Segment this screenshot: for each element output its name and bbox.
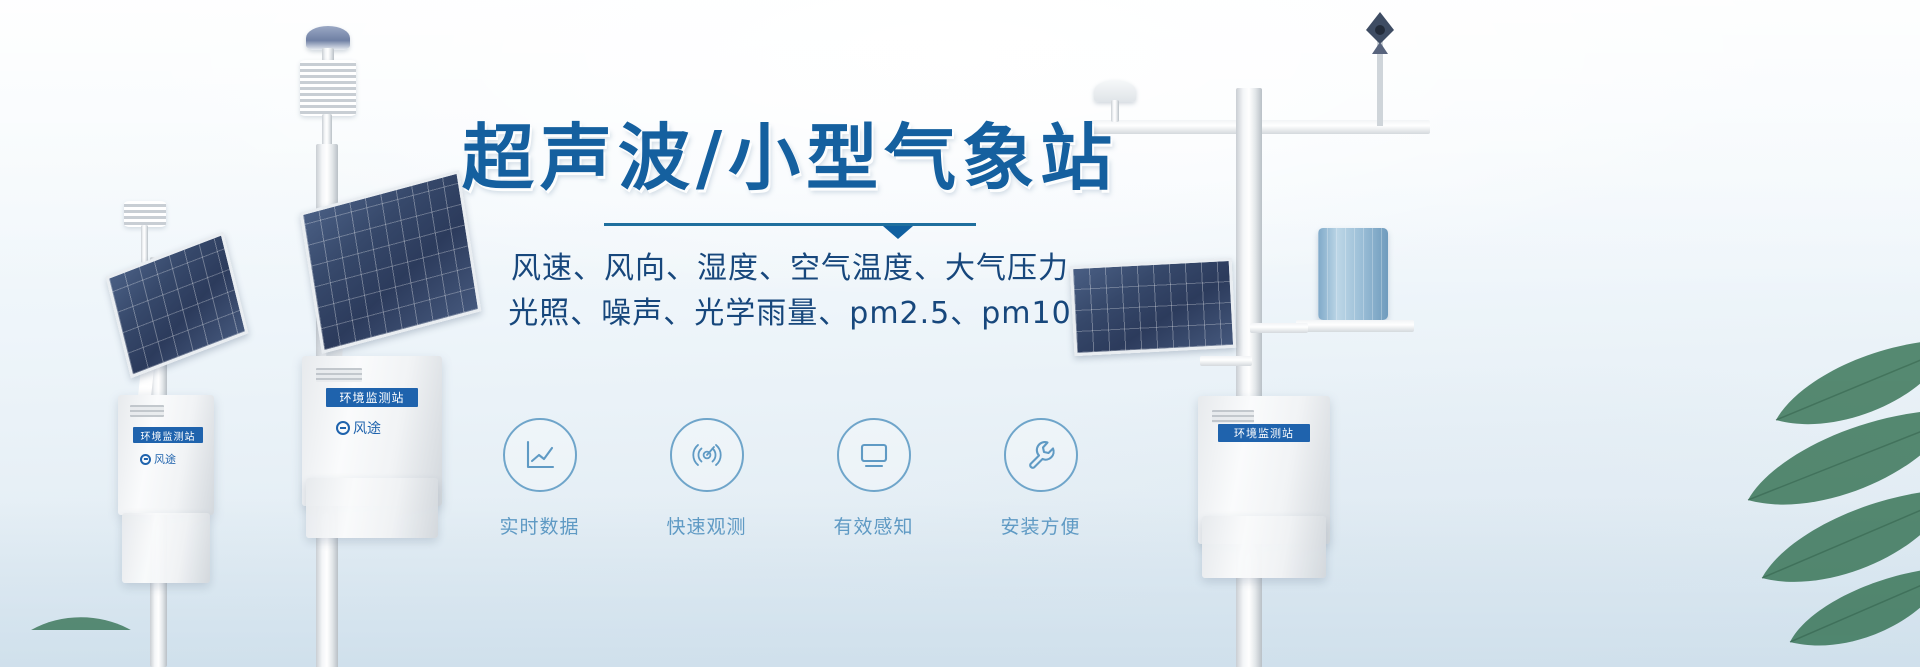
line-chart-icon [521,436,559,474]
feature-text-list: 风速、风向、湿度、空气温度、大气压力 光照、噪声、光学雨量、pm2.5、pm10 [440,246,1140,337]
cabinet-vent [1212,410,1254,423]
solar-panel [106,232,249,379]
subtitle-line-1: 风速、风向、湿度、空气温度、大气压力 [440,246,1140,292]
feature-icon-ring [837,418,911,492]
ultrasonic-wind-sensor [1094,80,1136,102]
feature-label: 快速观测 [644,512,769,539]
title-divider [604,223,976,226]
feature-icon-ring [503,418,577,492]
weather-station-unit-small-left: 环境监测站 风途 [98,195,278,667]
feature-label: 安装方便 [978,512,1103,539]
feature-item-realtime-data[interactable]: 实时数据 [477,418,602,539]
product-banner: 环境监测站 风途 环境监测站 风途 [0,0,1920,667]
cabinet-brand-logo: 风途 [336,418,381,438]
radiation-shield-stack [300,60,356,116]
monitor-screen-icon [855,436,893,474]
wind-vane-anemometer-icon [1350,10,1410,126]
cabinet-name-plate: 环境监测站 [1218,424,1310,442]
brand-name-text: 风途 [154,451,176,467]
brand-mark-icon [336,421,350,435]
brand-name-text: 风途 [353,418,381,438]
cabinet-lower-section [122,513,210,583]
optical-rain-gauge [1318,228,1388,320]
feature-icon-ring [670,418,744,492]
cabinet-brand-logo: 风途 [140,451,176,467]
rain-gauge-shelf [1296,320,1414,332]
feature-item-effective-sensing[interactable]: 有效感知 [811,418,936,539]
divider-triangle-icon [883,226,913,239]
cabinet-name-plate: 环境监测站 [326,388,418,407]
radiation-shield-sensor [124,201,166,227]
rain-gauge-support-arm [1250,323,1308,333]
cabinet-lower-section [306,478,438,538]
station-mast [1236,88,1262,667]
cabinet-vent [316,368,362,382]
brand-mark-icon [140,454,151,465]
subtitle-line-2: 光照、噪声、光学雨量、pm2.5、pm10 [440,291,1140,337]
feature-label: 有效感知 [811,512,936,539]
sensor-stem [141,225,148,263]
radar-signal-icon [688,436,726,474]
feature-item-fast-observation[interactable]: 快速观测 [644,418,769,539]
ultrasonic-wind-sensor [306,26,350,50]
cabinet-vent [130,405,164,417]
wrench-icon [1022,436,1060,474]
cabinet-name-plate: 环境监测站 [133,427,203,443]
feature-icon-row: 实时数据 快速观测 有效感知 [440,418,1140,539]
feature-icon-ring [1004,418,1078,492]
leaf-decoration-right [1600,300,1920,667]
cabinet-lower-section [1202,516,1326,578]
feature-label: 实时数据 [477,512,602,539]
panel-support-arm [1200,356,1252,366]
page-title: 超声波/小型气象站 [440,118,1140,199]
feature-item-easy-install[interactable]: 安装方便 [978,418,1103,539]
banner-copy-block: 超声波/小型气象站 风速、风向、湿度、空气温度、大气压力 光照、噪声、光学雨量、… [440,118,1140,337]
